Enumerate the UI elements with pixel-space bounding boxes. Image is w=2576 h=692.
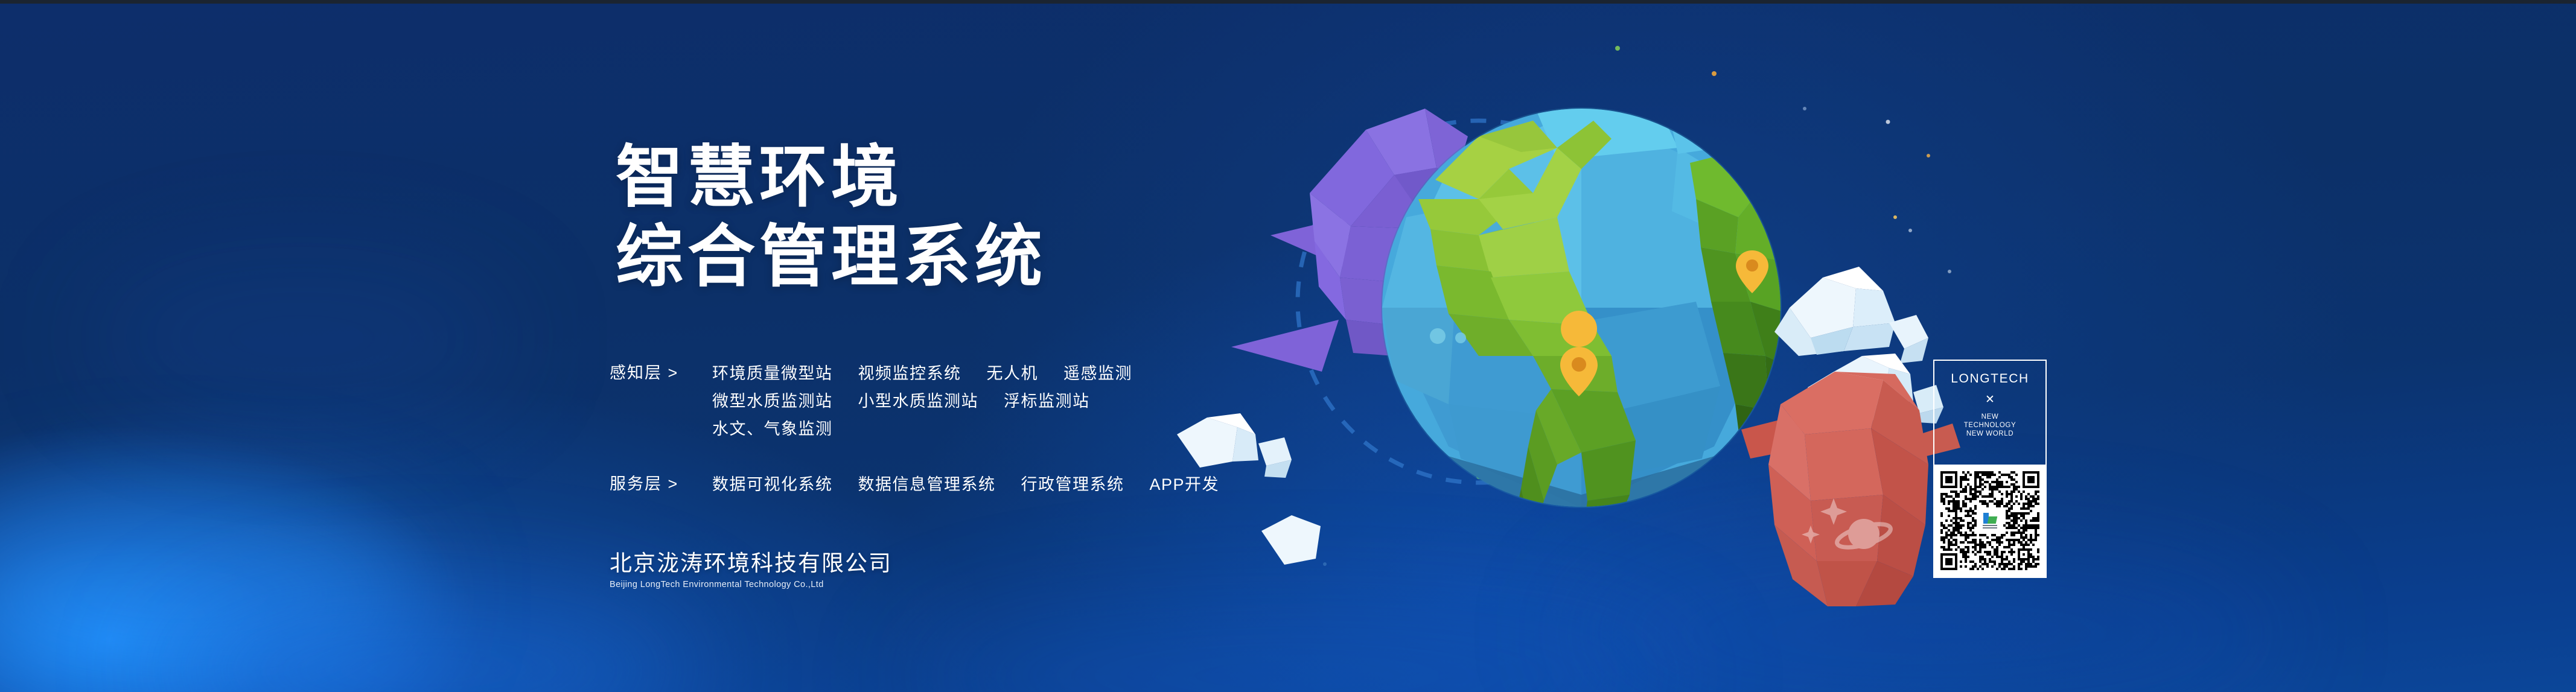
layer-item[interactable]: 遥感监测 [1063,360,1132,387]
layer-item[interactable]: 视频监控系统 [858,360,961,387]
qr-center-logo [1978,509,2002,533]
top-strip [0,0,2576,4]
space-illustration [1195,18,1980,633]
layer-items-service: 数据可视化系统 数据信息管理系统 行政管理系统 APP开发 [712,471,1219,498]
background-glow-1 [0,495,422,692]
company-signature: 北京泷涛环境科技有限公司 Beijing LongTech Environmen… [610,550,892,591]
layer-item[interactable]: APP开发 [1150,471,1220,498]
longtech-logo-icon [1983,513,1997,524]
tagline-line-1: NEW [1964,413,2016,421]
company-name-cn: 北京泷涛环境科技有限公司 [610,550,892,577]
item-line: 微型水质监测站 小型水质监测站 浮标监测站 [712,387,1132,415]
hero-banner: 智慧环境 综合管理系统 感知层 > 环境质量微型站 视频监控系统 无人机 遥感监… [0,0,2576,692]
qr-card-header: LONGTECH ✕ NEW TECHNOLOGY NEW WORLD [1934,361,2045,465]
cross-icon: ✕ [1985,391,1995,409]
tagline-line-2: TECHNOLOGY [1964,421,2016,430]
page-title: 智慧环境 综合管理系统 [616,138,1047,297]
layer-row-perception: 感知层 > 环境质量微型站 视频监控系统 无人机 遥感监测 微型水质监测站 小型… [610,360,1219,443]
cloud-below-globe [1261,515,1321,565]
qr-panel[interactable] [1934,465,2045,577]
layer-item[interactable]: 数据可视化系统 [712,471,833,498]
layer-list: 感知层 > 环境质量微型站 视频监控系统 无人机 遥感监测 微型水质监测站 小型… [610,360,1219,498]
brand-name: LONGTECH [1951,372,2029,386]
brand-tagline: NEW TECHNOLOGY NEW WORLD [1964,413,2016,438]
logo-caption-lines [1983,525,1997,529]
layer-item[interactable]: 环境质量微型站 [712,360,833,387]
layer-item[interactable]: 浮标监测站 [1004,387,1090,415]
company-name-en: Beijing LongTech Environmental Technolog… [610,578,892,591]
qr-code-image[interactable] [1940,471,2039,570]
layer-item[interactable]: 数据信息管理系统 [858,471,996,498]
layer-items-perception: 环境质量微型站 视频监控系统 无人机 遥感监测 微型水质监测站 小型水质监测站 … [712,360,1132,443]
cloud-right-upper [1774,267,1928,363]
background-glow-5 [91,259,513,416]
layer-item[interactable]: 小型水质监测站 [858,387,979,415]
tagline-line-3: NEW WORLD [1964,430,2016,438]
layer-item[interactable]: 行政管理系统 [1021,471,1124,498]
item-line: 数据可视化系统 数据信息管理系统 行政管理系统 APP开发 [712,471,1219,498]
headline-line-2: 综合管理系统 [616,217,1047,297]
layer-label-perception[interactable]: 感知层 > [610,360,712,386]
globe-dot-left-1 [1430,328,1446,344]
headline-line-1: 智慧环境 [616,139,903,215]
background-glow-2 [157,591,700,692]
qr-card[interactable]: LONGTECH ✕ NEW TECHNOLOGY NEW WORLD [1933,360,2047,578]
layer-item[interactable]: 微型水质监测站 [712,387,833,415]
globe-dot-left-2 [1455,332,1466,343]
layer-label-service[interactable]: 服务层 > [610,471,712,497]
layer-row-service: 服务层 > 数据可视化系统 数据信息管理系统 行政管理系统 APP开发 [610,471,1219,498]
layer-item[interactable]: 水文、气象监测 [712,415,833,443]
item-line: 水文、气象监测 [712,415,1132,443]
item-line: 环境质量微型站 视频监控系统 无人机 遥感监测 [712,360,1132,387]
layer-item[interactable]: 无人机 [987,360,1039,387]
